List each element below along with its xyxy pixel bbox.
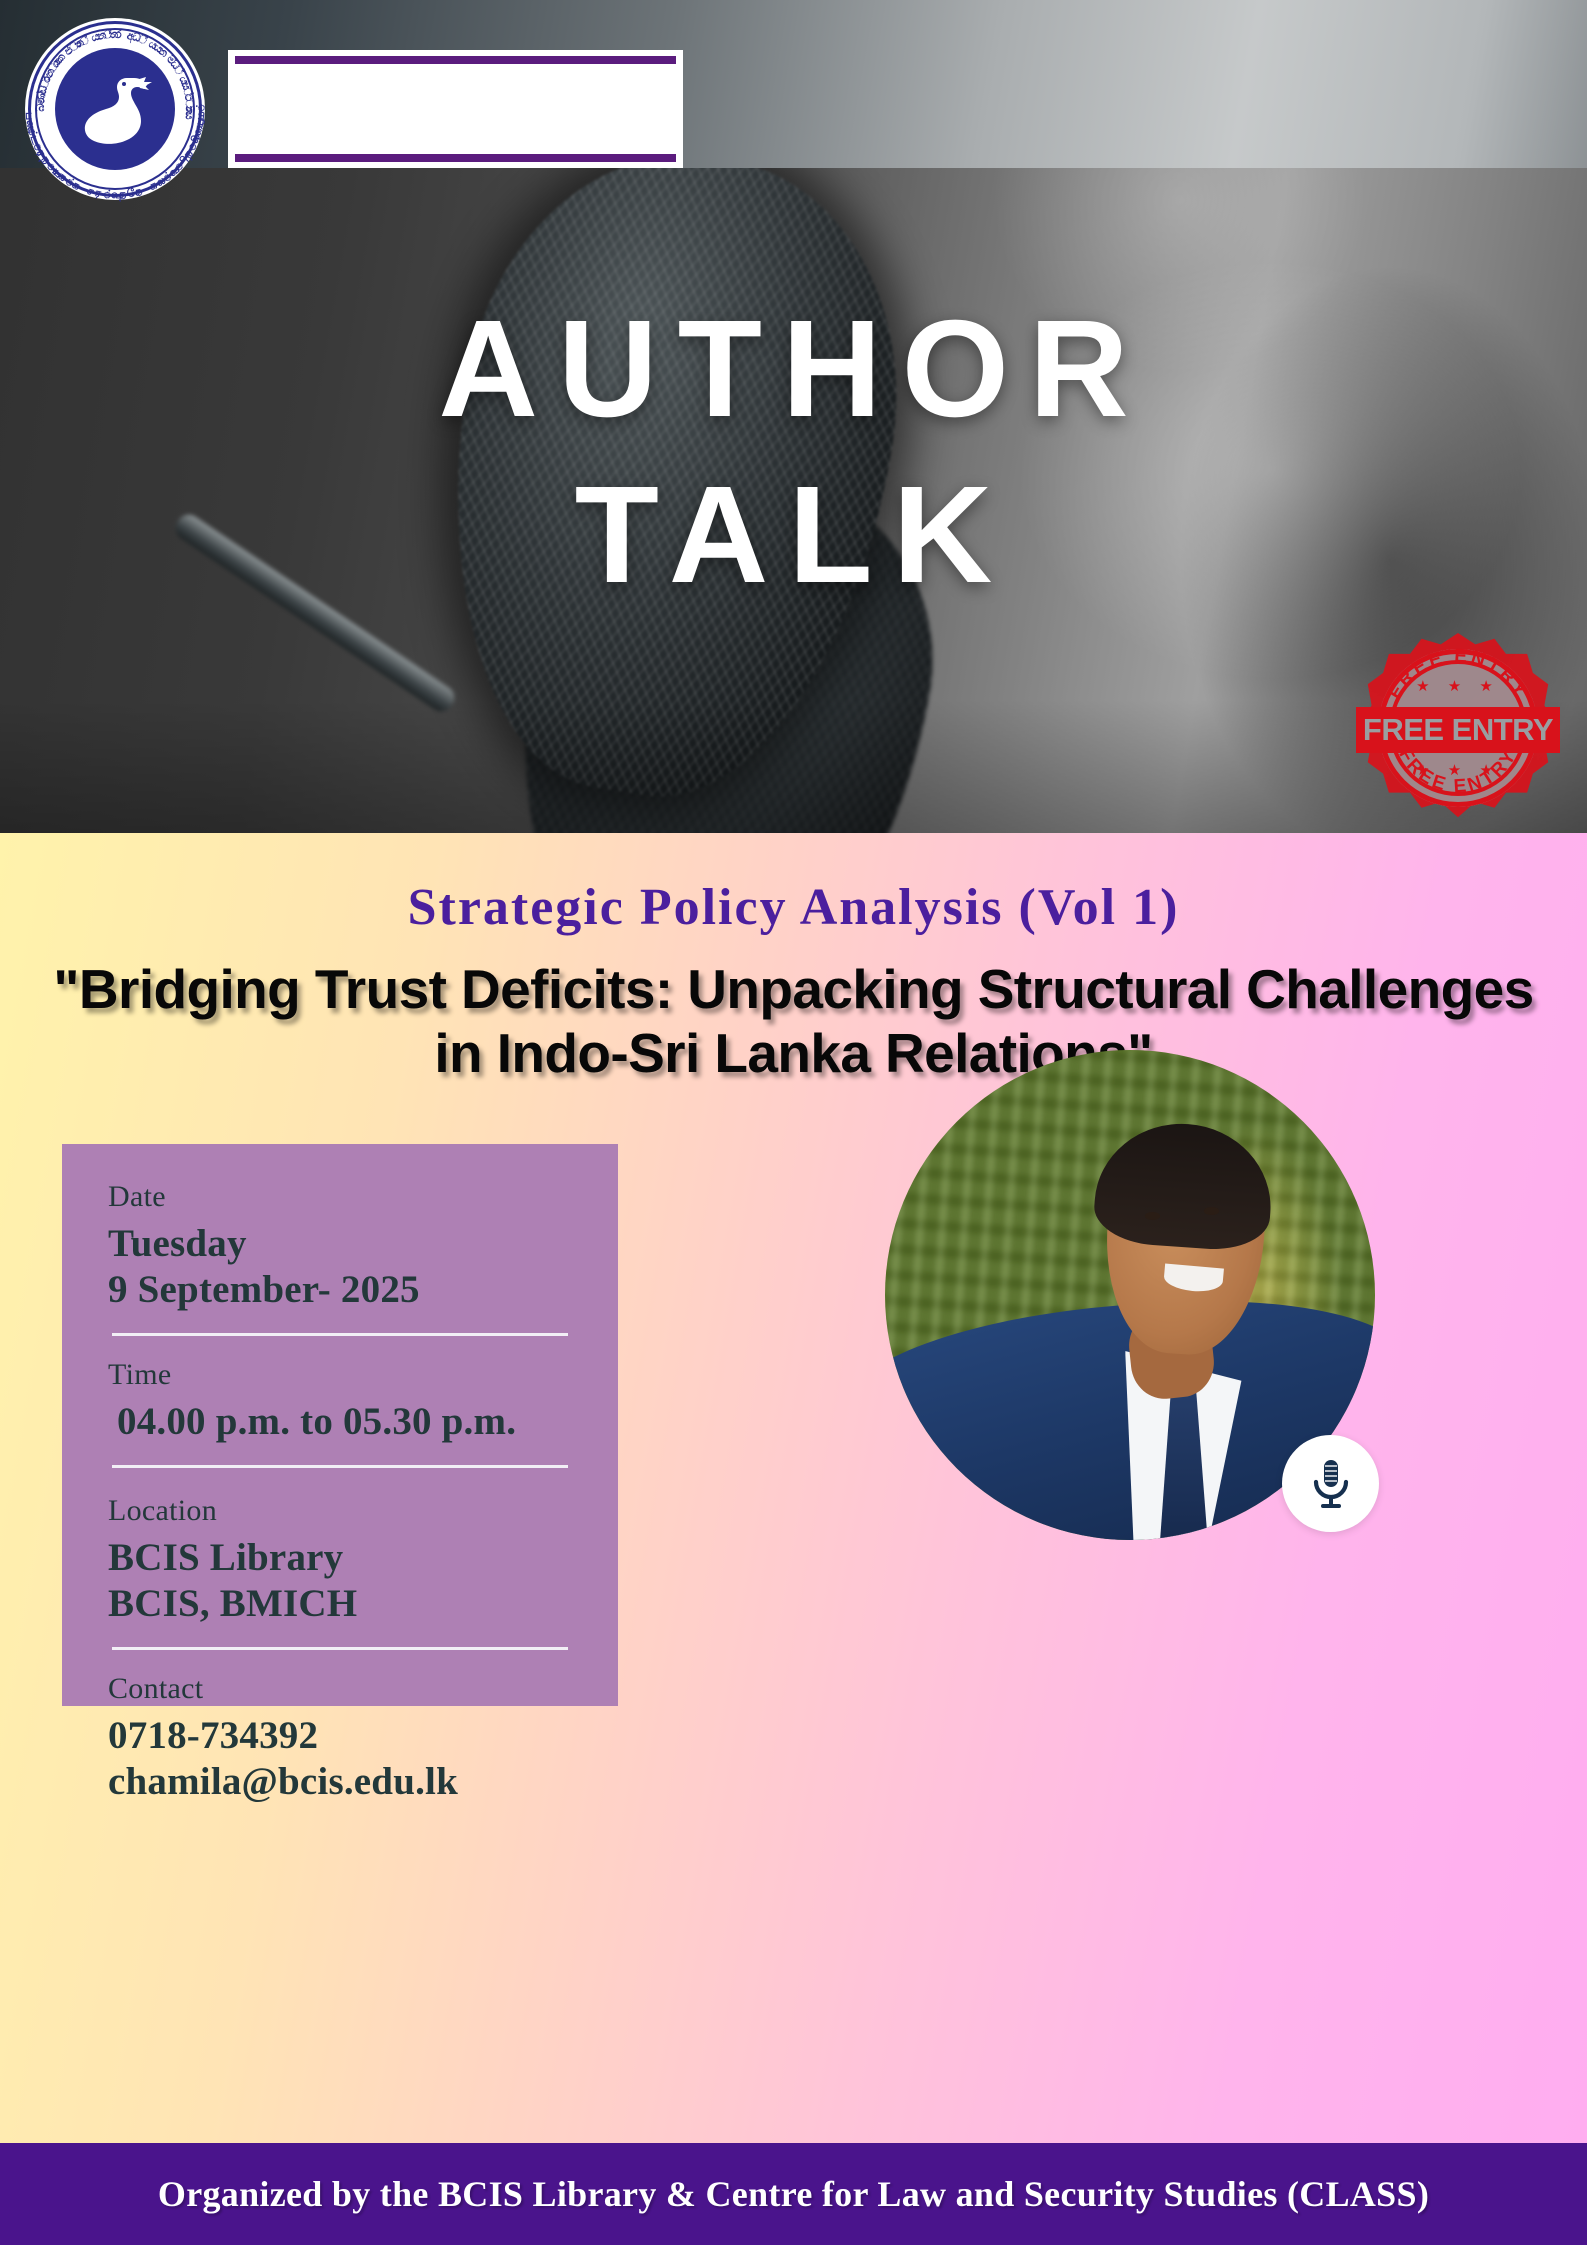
hero-title: AUTHOR TALK [0,300,1587,604]
contact-label: Contact [108,1672,572,1706]
class-logo-bottom-bar [235,154,676,162]
volume-title: Strategic Policy Analysis (Vol 1) [0,878,1587,937]
stamp-band-text: FREE ENTRY [1356,707,1560,753]
location-value-1: BCIS Library [108,1535,572,1581]
contact-email[interactable]: chamila@bcis.edu.lk [108,1759,572,1805]
poster: බණ්ඩාරනායක ජාත්‍යන්තර අධ්‍යයන මධ්‍යස්ථාන… [0,0,1587,2245]
divider-3 [112,1647,568,1650]
microphone-icon [1309,1457,1353,1511]
poster-body: Strategic Policy Analysis (Vol 1) "Bridg… [0,833,1587,2143]
author-eye-right [1204,1207,1220,1215]
divider-2 [112,1465,568,1468]
date-value-day: Tuesday [108,1221,572,1267]
location-section: Location BCIS Library BCIS, BMICH [108,1494,572,1627]
footer-bar: Organized by the BCIS Library & Centre f… [0,2143,1587,2245]
date-section: Date Tuesday 9 September- 2025 [108,1180,572,1313]
time-label: Time [108,1358,572,1392]
free-entry-stamp: ★ ★ ★ ★ ★ ★ FREE ENTRY FREE ENTRY FREE E… [1362,633,1554,823]
author-eye-left [1145,1212,1161,1220]
hero-banner: බණ්ඩාරනායක ජාත්‍යන්තර අධ්‍යයන මධ්‍යස්ථාන… [0,0,1587,833]
author-photo-wrap [885,1050,1375,1540]
footer-text: Organized by the BCIS Library & Centre f… [158,2173,1429,2215]
time-value: 04.00 p.m. to 05.30 p.m. [108,1399,572,1445]
location-value-2: BCIS, BMICH [108,1581,572,1627]
hero-title-line1: AUTHOR [438,292,1148,446]
date-value-date: 9 September- 2025 [108,1267,572,1313]
time-section: Time 04.00 p.m. to 05.30 p.m. [108,1358,572,1445]
event-details-card: Date Tuesday 9 September- 2025 Time 04.0… [62,1144,618,1706]
contact-phone[interactable]: 0718-734392 [108,1713,572,1759]
bcis-seal-logo: බණ්ඩාරනායක ජාත්‍යන්තර අධ්‍යයන මධ්‍යස්ථාන… [25,18,205,200]
divider-1 [112,1333,568,1336]
hero-title-line2: TALK [0,466,1587,604]
seal-sinhala-text: බණ්ඩාරනායක ජාත්‍යන්තර අධ්‍යයන මධ්‍යස්ථාන… [25,18,205,200]
svg-text:FREE ENTRY: FREE ENTRY [1384,646,1532,703]
microphone-badge [1282,1435,1379,1532]
date-label: Date [108,1180,572,1214]
class-logo-top-bar [235,56,676,64]
location-label: Location [108,1494,572,1528]
class-logo: CSS L A Centre for Law & Security Studie… [228,50,683,168]
contact-section: Contact 0718-734392 chamila@bcis.edu.lk [108,1672,572,1805]
